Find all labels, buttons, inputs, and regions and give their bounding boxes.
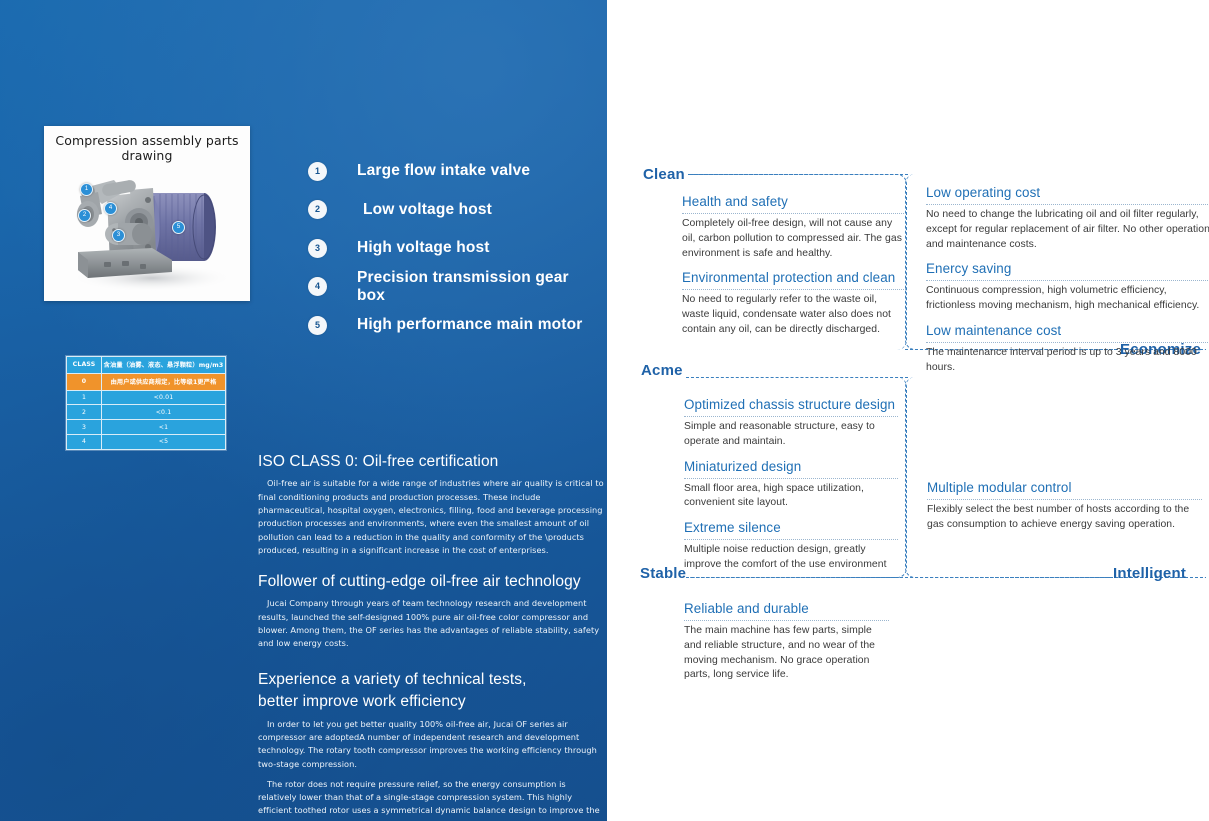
item-body: Flexibly select the best number of hosts… [927, 503, 1202, 533]
item-heading: Extreme silence [684, 519, 898, 540]
cell-class: 2 [67, 405, 102, 420]
block-paragraph: The rotor does not require pressure reli… [258, 778, 604, 821]
block-heading: Follower of cutting-edge oil-free air te… [258, 572, 604, 591]
technology-block: Follower of cutting-edge oil-free air te… [258, 572, 604, 658]
item-heading: Multiple modular control [927, 479, 1202, 500]
hotspot-4[interactable]: 4 [104, 202, 117, 215]
block-paragraph: In order to let you get better quality 1… [258, 718, 604, 771]
hotspot-1[interactable]: 1 [80, 183, 93, 196]
dashed-frame-intelligent [905, 377, 1206, 578]
dashed-rail-stable [686, 577, 908, 578]
dashed-rail-intelligent [905, 577, 1110, 578]
header-class: CLASS [67, 357, 102, 374]
item-heading: Health and safety [682, 193, 906, 214]
feature-number: 2 [308, 200, 327, 219]
compressor-svg [44, 152, 250, 301]
feature-label: Low voltage host [363, 201, 492, 219]
feature-item-3[interactable]: 3 High voltage host [308, 229, 598, 268]
intelligent-content: Multiple modular control Flexibly select… [927, 479, 1202, 533]
item-body: Simple and reasonable structure, easy to… [684, 420, 898, 450]
item-body: Multiple noise reduction design, greatly… [684, 543, 898, 573]
feature-number: 1 [308, 162, 327, 181]
header-oil-content: 含油量（油雾、液态、悬浮颗粒）mg/m3 [102, 357, 226, 374]
feature-label: Precision transmission gear box [357, 269, 598, 305]
technical-tests-block: Experience a variety of technical tests,… [258, 670, 604, 821]
feature-item-4[interactable]: 4 Precision transmission gear box [308, 268, 598, 307]
item-body: Continuous compression, high volumetric … [926, 284, 1209, 314]
cell-value: <0.01 [102, 390, 226, 405]
feature-item-5[interactable]: 5 High performance main motor [308, 306, 598, 345]
dashed-rail-acme [686, 377, 908, 378]
economize-content: Low operating cost No need to change the… [926, 184, 1209, 376]
feature-list: 1 Large flow intake valve 2 Low voltage … [308, 152, 598, 345]
cell-class: 0 [67, 373, 102, 390]
item-body: Small floor area, high space utilization… [684, 482, 898, 512]
table-row: 2 <0.1 [67, 405, 226, 420]
block-paragraph: Oil-free air is suitable for a wide rang… [258, 477, 604, 557]
item-body: The main machine has few parts, simple a… [684, 624, 889, 683]
table-row: 0 由用户或供应商规定，比等级1更严格 [67, 373, 226, 390]
item-heading: Optimized chassis structure design [684, 396, 898, 417]
quadrant-label-intelligent: Intelligent [1113, 565, 1186, 582]
item-heading: Miniaturized design [684, 458, 898, 479]
acme-content: Optimized chassis structure design Simpl… [684, 396, 898, 573]
cell-value: <0.1 [102, 405, 226, 420]
hotspot-3[interactable]: 3 [112, 229, 125, 242]
table-row: 1 <0.01 [67, 390, 226, 405]
feature-label: High voltage host [357, 239, 490, 257]
oil-class-table: CLASS 含油量（油雾、液态、悬浮颗粒）mg/m3 0 由用户或供应商规定，比… [66, 356, 226, 450]
hotspot-5[interactable]: 5 [172, 221, 185, 234]
cell-value: <5 [102, 434, 226, 449]
block-heading-line1: Experience a variety of technical tests, [258, 670, 604, 689]
feature-number: 3 [308, 239, 327, 258]
feature-number: 4 [308, 277, 327, 296]
feature-number: 5 [308, 316, 327, 335]
item-heading: Low maintenance cost [926, 322, 1209, 343]
left-blue-panel: Compression assembly parts drawing [0, 0, 607, 821]
item-body: Completely oil-free design, will not cau… [682, 217, 906, 261]
product-photo-card: Compression assembly parts drawing [44, 126, 250, 301]
cell-class: 1 [67, 390, 102, 405]
stable-content: Reliable and durable The main machine ha… [684, 600, 889, 683]
cell-class: 3 [67, 420, 102, 435]
dashed-rail-clean [688, 174, 908, 175]
item-body: No need to regularly refer to the waste … [682, 293, 906, 337]
feature-item-1[interactable]: 1 Large flow intake valve [308, 152, 598, 191]
hotspot-2[interactable]: 2 [78, 209, 91, 222]
iso-class-block: ISO CLASS 0: Oil-free certification Oil-… [258, 452, 604, 564]
item-body: The maintenance interval period is up to… [926, 346, 1209, 376]
slide-page: Compression assembly parts drawing [0, 0, 1209, 821]
table-header-row: CLASS 含油量（油雾、液态、悬浮颗粒）mg/m3 [67, 357, 226, 374]
table-row: 3 <1 [67, 420, 226, 435]
block-heading-line2: better improve work efficiency [258, 692, 604, 711]
block-heading: ISO CLASS 0: Oil-free certification [258, 452, 604, 471]
compressor-illustration: 1 2 3 4 5 [44, 152, 250, 301]
cell-value: <1 [102, 420, 226, 435]
cell-value: 由用户或供应商规定，比等级1更严格 [102, 373, 226, 390]
table-row: 4 <5 [67, 434, 226, 449]
block-paragraph: Jucai Company through years of team tech… [258, 597, 604, 650]
clean-content: Health and safety Completely oil-free de… [682, 193, 906, 338]
quadrant-label-acme: Acme [641, 362, 683, 379]
item-heading: Enercy saving [926, 260, 1209, 281]
item-heading: Low operating cost [926, 184, 1209, 205]
item-heading: Environmental protection and clean [682, 269, 906, 290]
cell-class: 4 [67, 434, 102, 449]
quadrant-label-clean: Clean [643, 166, 685, 183]
item-heading: Reliable and durable [684, 600, 889, 621]
feature-label: High performance main motor [357, 316, 582, 334]
feature-label: Large flow intake valve [357, 162, 530, 180]
feature-item-2[interactable]: 2 Low voltage host [308, 191, 598, 230]
quadrant-label-stable: Stable [640, 565, 686, 582]
item-body: No need to change the lubricating oil an… [926, 208, 1209, 252]
